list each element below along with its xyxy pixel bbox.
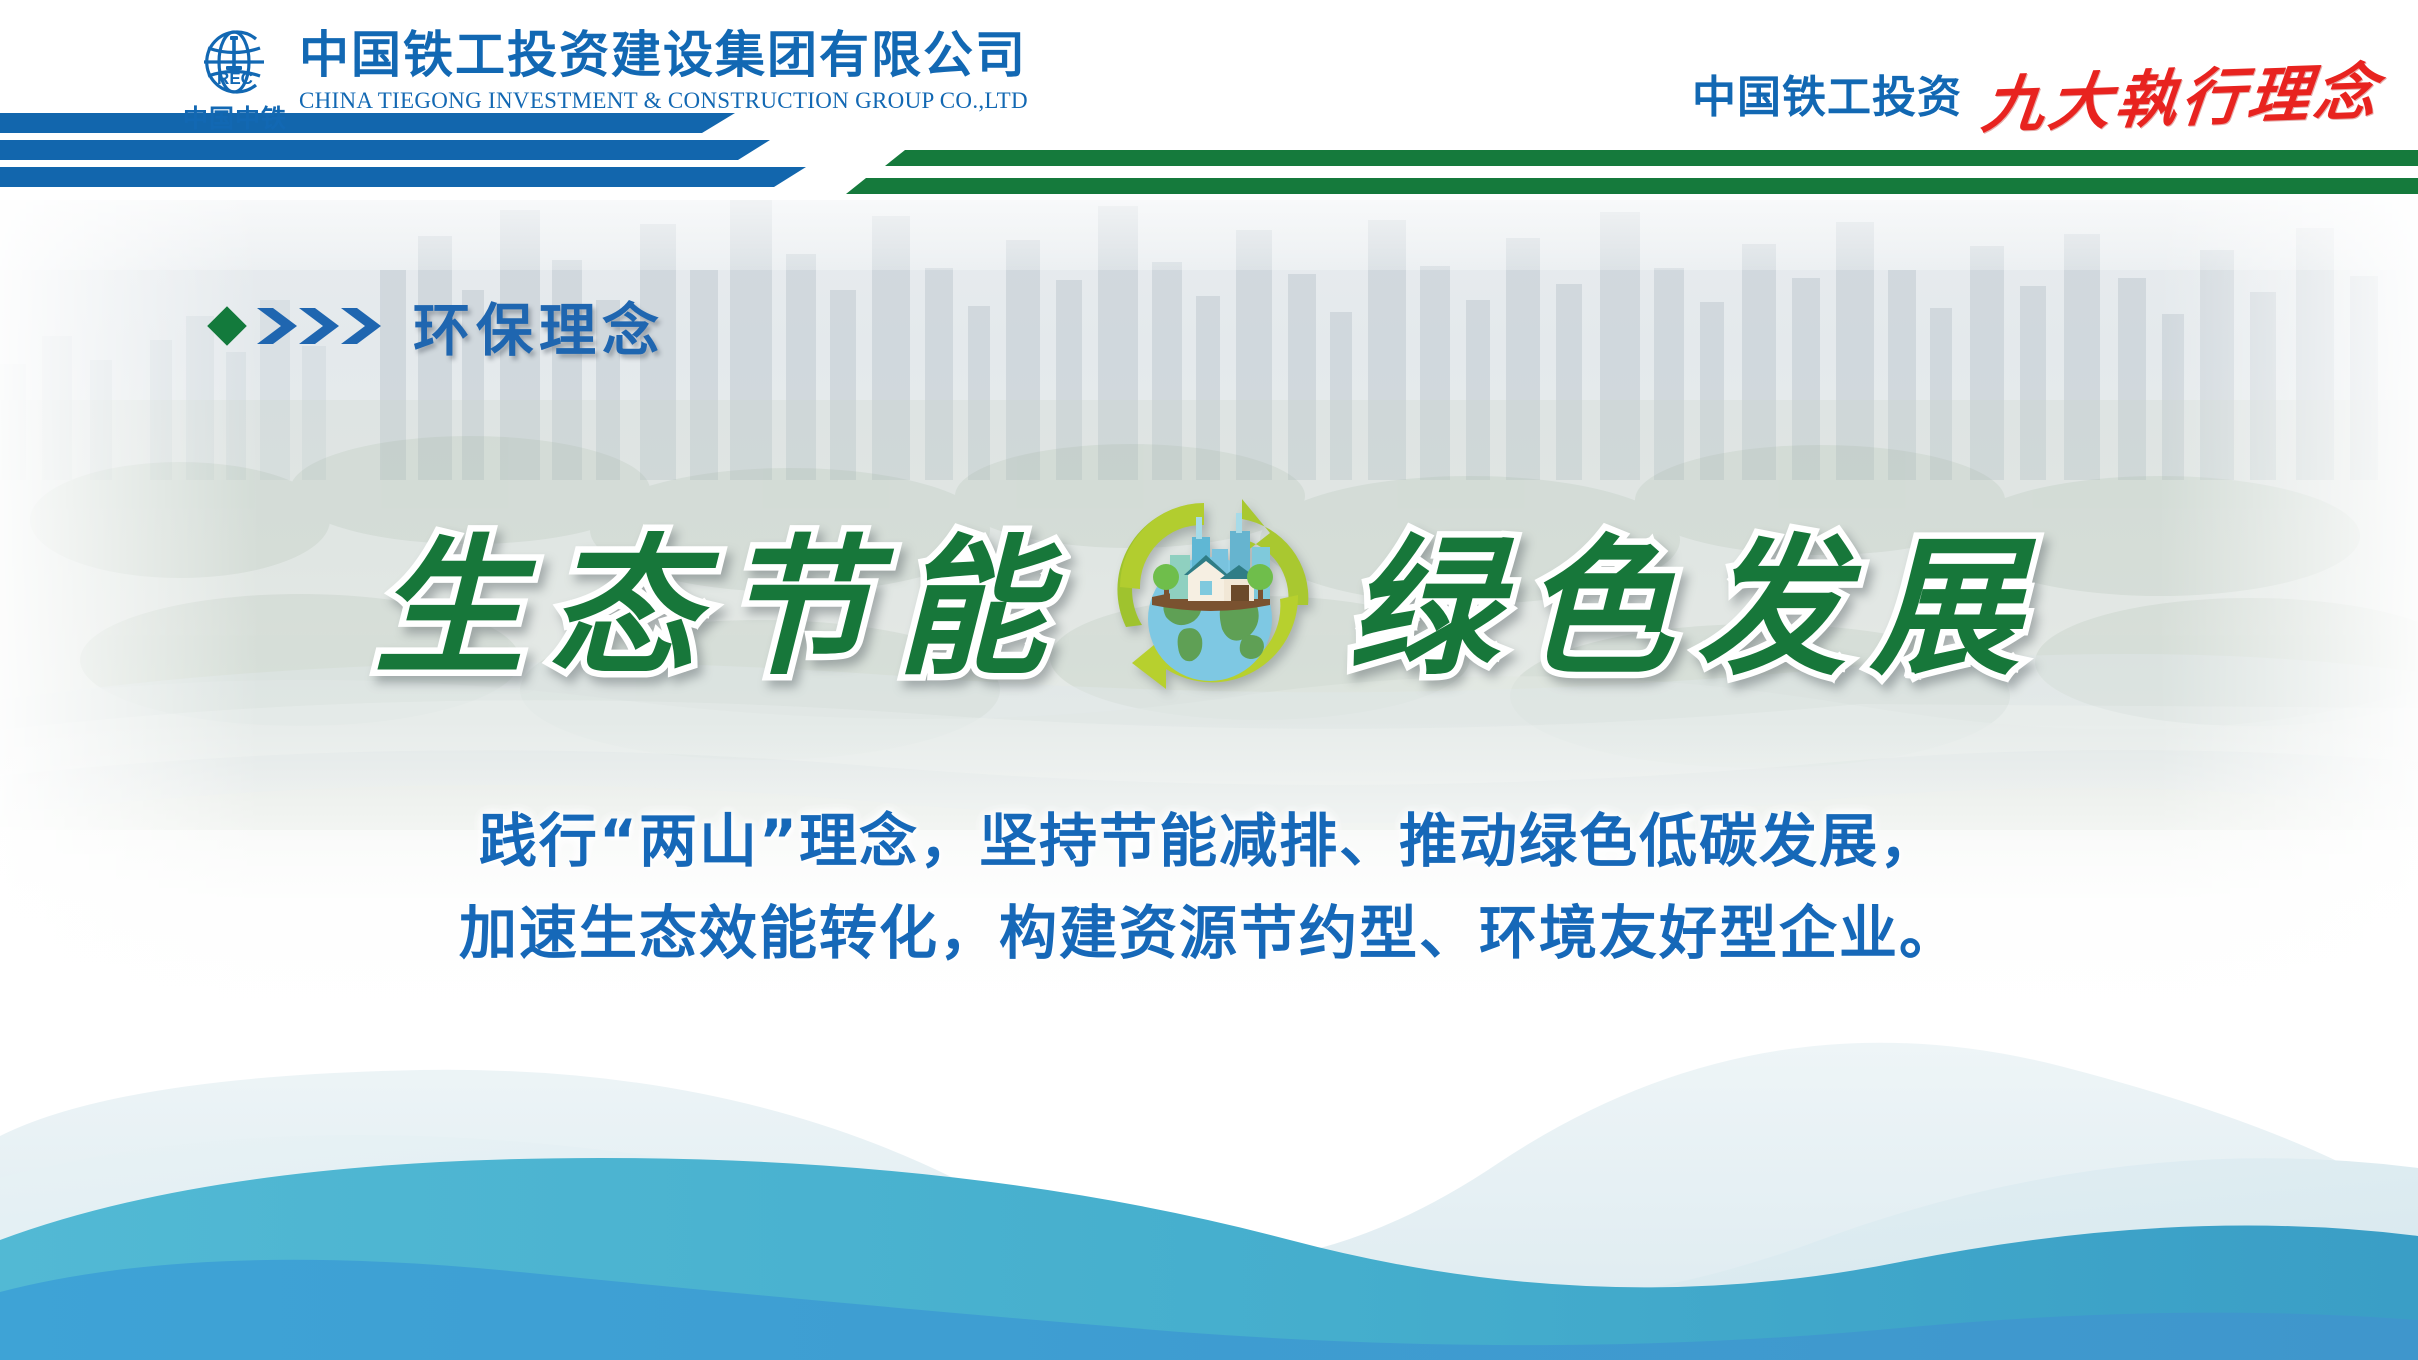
crec-globe-icon: REC xyxy=(194,26,276,98)
headline-left-text: 生态节能 xyxy=(374,487,1070,704)
green-diamond-icon xyxy=(207,306,247,346)
crec-logo-mark: REC 中国中铁 xyxy=(185,26,285,135)
body-copy-block: 践行“两山”理念，坚持节能减排、推动绿色低碳发展， 加速生态效能转化，构建资源节… xyxy=(0,795,2418,979)
slide-canvas: REC 中国中铁 中国铁工投资建设集团有限公司 CHINA TIEGONG IN… xyxy=(0,0,2418,1360)
section-title-group: 环保理念 xyxy=(205,285,665,367)
page-header: REC 中国中铁 中国铁工投资建设集团有限公司 CHINA TIEGONG IN… xyxy=(0,0,2418,200)
bottom-wave-decoration xyxy=(0,940,2418,1360)
section-bullet-icons xyxy=(205,298,395,354)
svg-text:REC: REC xyxy=(217,69,253,88)
company-logo-block: REC 中国中铁 中国铁工投资建设集团有限公司 CHINA TIEGONG IN… xyxy=(185,26,1028,135)
chevron-right-icon xyxy=(257,308,381,344)
crec-logo-caption: 中国中铁 xyxy=(183,99,287,135)
headline-right-text: 绿色发展 xyxy=(1348,487,2044,704)
green-stripes xyxy=(807,150,2418,200)
recycle-earth-city-icon xyxy=(1092,477,1328,713)
company-name-cn: 中国铁工投资建设集团有限公司 xyxy=(299,26,1028,84)
headline-group: 生态节能 xyxy=(0,470,2418,720)
body-copy-line-2: 加速生态效能转化，构建资源节约型、环境友好型企业。 xyxy=(0,887,2418,979)
company-name-en: CHINA TIEGONG INVESTMENT & CONSTRUCTION … xyxy=(299,86,1028,116)
section-title-text: 环保理念 xyxy=(413,285,665,367)
body-copy-line-1: 践行“两山”理念，坚持节能减排、推动绿色低碳发展， xyxy=(0,795,2418,887)
header-right-prefix: 中国铁工投资 xyxy=(1692,61,1962,125)
company-name-group: 中国铁工投资建设集团有限公司 CHINA TIEGONG INVESTMENT … xyxy=(299,26,1028,116)
header-right-title: 中国铁工投资 九大執行理念 xyxy=(1692,48,2380,138)
header-right-slogan: 九大執行理念 xyxy=(1978,41,2385,145)
